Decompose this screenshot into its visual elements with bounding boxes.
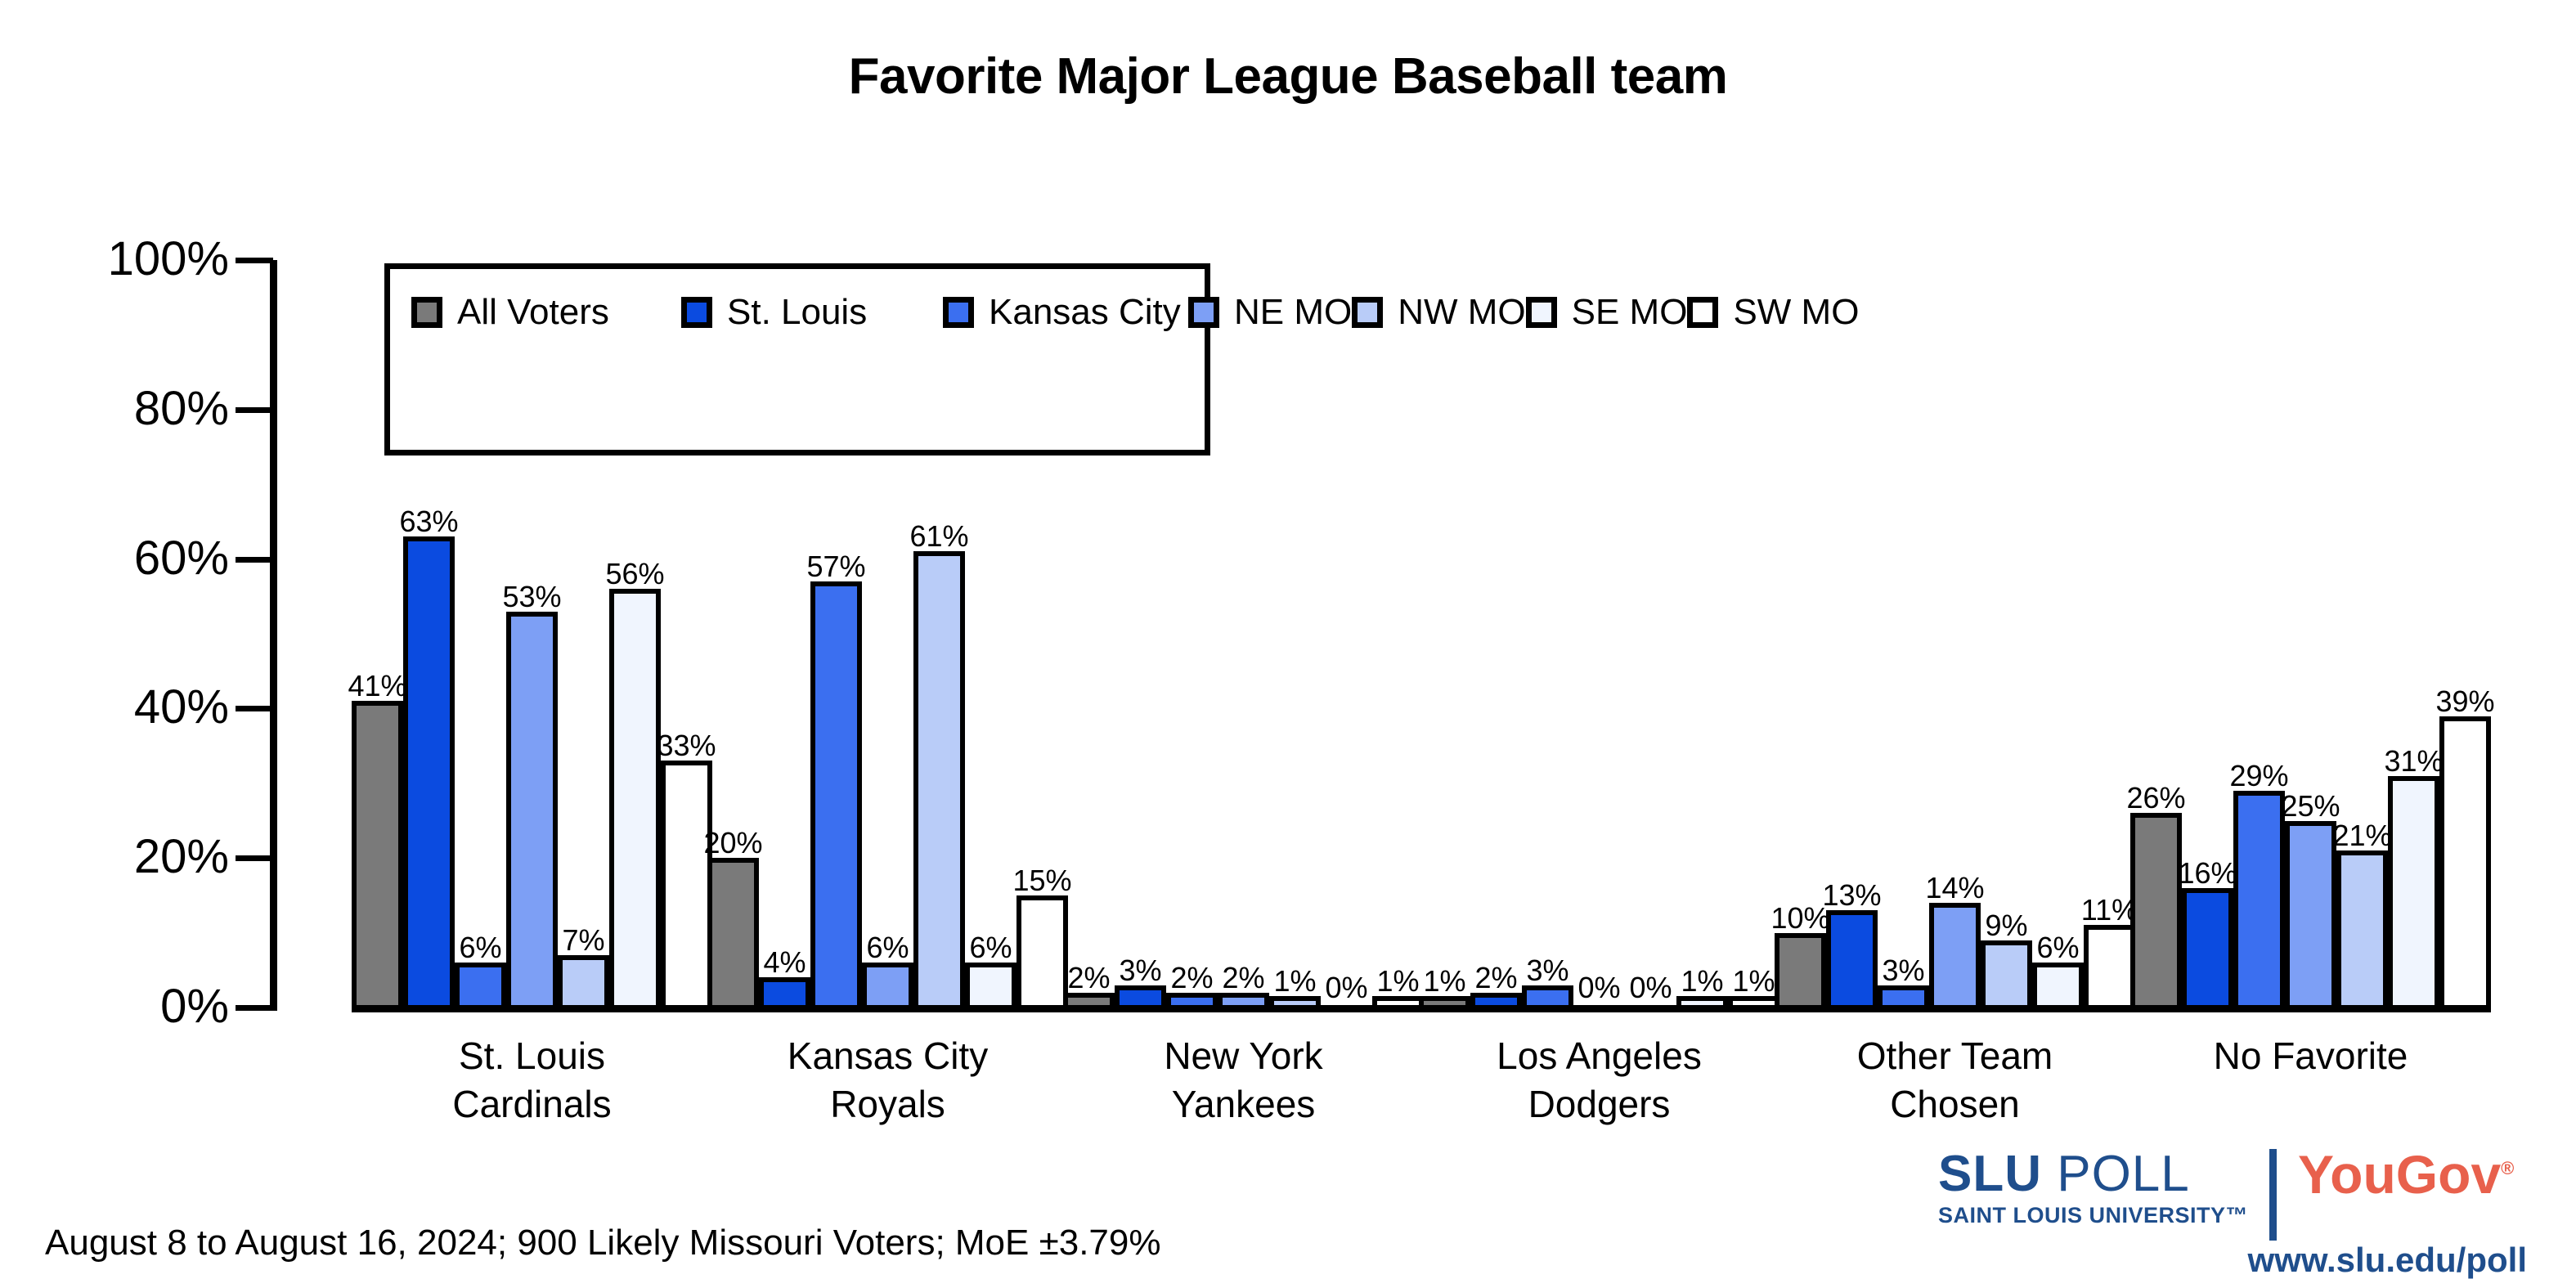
bar[interactable]: 14% xyxy=(1929,903,1981,1008)
bar-value-label: 14% xyxy=(1925,873,1984,903)
bar[interactable]: 4% xyxy=(759,977,810,1008)
bar-value-label: 1% xyxy=(1423,967,1465,996)
bar-column[interactable]: 39% xyxy=(2439,262,2491,1008)
bar-column[interactable]: 16% xyxy=(2182,262,2233,1008)
slu-poll-logo: SLU POLL SAINT LOUIS UNIVERSITY™ xyxy=(1938,1149,2248,1227)
group-baseline xyxy=(707,1005,1068,1012)
y-axis-tick xyxy=(236,258,273,263)
group-baseline xyxy=(2130,1005,2491,1012)
bar[interactable]: 63% xyxy=(403,536,455,1008)
bar-value-label: 0% xyxy=(1325,973,1367,1003)
bar-value-label: 1% xyxy=(1273,967,1316,996)
slu-poll-text: POLL xyxy=(2042,1146,2190,1202)
legend-item[interactable]: SE MO xyxy=(1526,294,1688,330)
bar-column[interactable]: 26% xyxy=(2130,262,2182,1008)
bar[interactable]: 57% xyxy=(810,581,862,1008)
bar-column[interactable]: 29% xyxy=(2233,262,2285,1008)
bar-column[interactable]: 10% xyxy=(1775,262,1826,1008)
bar-value-label: 63% xyxy=(399,507,458,536)
x-axis-category-label: St. LouisCardinals xyxy=(452,1032,611,1129)
bar-column[interactable]: 9% xyxy=(1981,262,2032,1008)
y-axis-tick-label: 20% xyxy=(8,833,229,881)
bar-value-label: 21% xyxy=(2332,821,2391,850)
bar-column[interactable]: 3% xyxy=(1522,262,1573,1008)
legend-label: NW MO xyxy=(1398,294,1525,330)
bar-group-bars: 1%2%3%0%0%1%1% xyxy=(1419,262,1779,1008)
x-axis-category-label-line: Royals xyxy=(788,1080,988,1129)
bar-column[interactable]: 2% xyxy=(1470,262,1522,1008)
bar[interactable]: 61% xyxy=(913,551,965,1008)
y-axis-tick-label: 40% xyxy=(8,684,229,731)
bar-value-label: 4% xyxy=(763,948,806,977)
group-baseline xyxy=(352,1005,712,1012)
legend-swatch xyxy=(1526,297,1557,328)
bar-column[interactable]: 1% xyxy=(1419,262,1470,1008)
x-axis-category-label-line: Kansas City xyxy=(788,1032,988,1080)
bar[interactable]: 20% xyxy=(707,858,759,1008)
bar[interactable]: 3% xyxy=(1878,985,1929,1008)
bar-value-label: 1% xyxy=(1732,967,1775,996)
legend-label: SW MO xyxy=(1733,294,1859,330)
y-axis-tick xyxy=(236,407,273,413)
bar-value-label: 3% xyxy=(1526,956,1568,985)
chart-plot-area: 0%20%40%60%80%100% 41%63%6%53%7%56%33%St… xyxy=(0,0,2576,1288)
bar-value-label: 1% xyxy=(1376,967,1419,996)
bar[interactable]: 21% xyxy=(2336,850,2388,1008)
bar[interactable]: 15% xyxy=(1016,895,1068,1008)
x-axis-category-label-line: Cardinals xyxy=(452,1080,611,1129)
bar[interactable]: 6% xyxy=(965,963,1016,1008)
bar[interactable]: 10% xyxy=(1775,933,1826,1008)
y-axis-tick xyxy=(236,706,273,711)
bar[interactable]: 3% xyxy=(1522,985,1573,1008)
bar-value-label: 26% xyxy=(2126,783,2185,813)
y-axis-tick-label: 100% xyxy=(8,236,229,283)
bar-column[interactable]: 1% xyxy=(1676,262,1728,1008)
bar-column[interactable]: 0% xyxy=(1573,262,1625,1008)
chart-legend: All VotersSt. LouisKansas CityNE MONW MO… xyxy=(384,263,1210,456)
bar[interactable]: 56% xyxy=(609,589,661,1008)
bar-value-label: 6% xyxy=(2036,933,2079,963)
bar-group-bars: 26%16%29%25%21%31%39% xyxy=(2130,262,2491,1008)
x-axis-category-label-line: Los Angeles xyxy=(1497,1032,1702,1080)
legend-label: NE MO xyxy=(1234,294,1352,330)
bar-value-label: 13% xyxy=(1822,881,1881,910)
bar[interactable]: 39% xyxy=(2439,716,2491,1008)
x-axis-category-label: Other TeamChosen xyxy=(1857,1032,2053,1129)
bar-value-label: 16% xyxy=(2178,859,2237,888)
bar-value-label: 7% xyxy=(562,926,604,955)
bar-value-label: 3% xyxy=(1882,956,1924,985)
y-axis-tick xyxy=(236,557,273,563)
legend-swatch xyxy=(411,297,442,328)
survey-footnote: August 8 to August 16, 2024; 900 Likely … xyxy=(45,1223,1161,1263)
bar-column[interactable]: 1% xyxy=(1269,262,1321,1008)
legend-item[interactable]: NW MO xyxy=(1352,294,1525,330)
bar[interactable]: 6% xyxy=(455,963,506,1008)
slu-subtitle: SAINT LOUIS UNIVERSITY™ xyxy=(1938,1205,2248,1227)
bar-column[interactable]: 3% xyxy=(1878,262,1929,1008)
y-axis-tick-label: 0% xyxy=(8,983,229,1030)
legend-swatch xyxy=(1352,297,1383,328)
bar-column[interactable]: 31% xyxy=(2388,262,2439,1008)
bar-value-label: 9% xyxy=(1985,911,2027,940)
bar-column[interactable]: 25% xyxy=(2285,262,2336,1008)
bar-value-label: 31% xyxy=(2384,747,2443,776)
x-axis-category-label-line: No Favorite xyxy=(2214,1032,2408,1080)
y-axis-tick-label: 80% xyxy=(8,385,229,433)
bar-column[interactable]: 21% xyxy=(2336,262,2388,1008)
bar-value-label: 2% xyxy=(1474,963,1517,993)
bar-value-label: 29% xyxy=(2229,761,2288,791)
bar-value-label: 6% xyxy=(459,933,501,963)
legend-swatch xyxy=(681,297,712,328)
bar-column[interactable]: 13% xyxy=(1826,262,1878,1008)
yougov-wordmark: YouGov® xyxy=(2298,1147,2514,1201)
y-axis-tick-label: 60% xyxy=(8,535,229,582)
legend-label: SE MO xyxy=(1572,294,1688,330)
group-baseline xyxy=(1775,1005,2135,1012)
bar[interactable]: 29% xyxy=(2233,791,2285,1008)
legend-item[interactable]: SW MO xyxy=(1687,294,1859,330)
legend-swatch xyxy=(943,297,974,328)
bar-group: 1%2%3%0%0%1%1%Los AngelesDodgers xyxy=(1419,262,1779,1008)
x-axis-category-label: No Favorite xyxy=(2214,1032,2408,1080)
bar-value-label: 53% xyxy=(502,582,561,612)
bar[interactable]: 13% xyxy=(1826,910,1878,1008)
bar-column[interactable]: 14% xyxy=(1929,262,1981,1008)
bar-value-label: 20% xyxy=(703,828,762,858)
bar-value-label: 57% xyxy=(806,552,865,581)
bar-value-label: 1% xyxy=(1681,967,1723,996)
bar[interactable]: 11% xyxy=(2084,925,2135,1008)
legend-item[interactable]: All Voters xyxy=(411,294,681,330)
bar-column[interactable]: 11% xyxy=(2084,262,2135,1008)
x-axis-category-label: Kansas CityRoyals xyxy=(788,1032,988,1129)
bar[interactable]: 41% xyxy=(352,701,403,1008)
bar[interactable]: 16% xyxy=(2182,888,2233,1008)
legend-item[interactable]: Kansas City xyxy=(943,294,1188,330)
y-axis-line xyxy=(270,260,277,1011)
x-axis-category-label-line: St. Louis xyxy=(452,1032,611,1080)
bar-value-label: 2% xyxy=(1067,963,1110,993)
logo-block: SLU POLL SAINT LOUIS UNIVERSITY™ YouGov®… xyxy=(1938,1149,2527,1280)
bar[interactable]: 7% xyxy=(558,955,609,1008)
x-axis-category-label: Los AngelesDodgers xyxy=(1497,1032,1702,1129)
bar-column[interactable]: 0% xyxy=(1321,262,1372,1008)
yougov-text: YouGov xyxy=(2298,1144,2501,1205)
bar[interactable]: 9% xyxy=(1981,940,2032,1008)
legend-label: St. Louis xyxy=(727,294,867,330)
bar-value-label: 3% xyxy=(1119,956,1161,985)
bar[interactable]: 25% xyxy=(2285,821,2336,1008)
bar-column[interactable]: 0% xyxy=(1625,262,1676,1008)
bar[interactable]: 6% xyxy=(2032,963,2084,1008)
legend-label: All Voters xyxy=(457,294,609,330)
bar[interactable]: 6% xyxy=(862,963,913,1008)
group-baseline xyxy=(1063,1005,1424,1012)
group-baseline xyxy=(1419,1005,1779,1012)
bar-column[interactable]: 6% xyxy=(2032,262,2084,1008)
legend-item[interactable]: St. Louis xyxy=(681,294,943,330)
legend-item[interactable]: NE MO xyxy=(1188,294,1352,330)
slu-poll-wordmark: SLU POLL xyxy=(1938,1149,2248,1200)
bar-value-label: 25% xyxy=(2281,792,2340,821)
bar-value-label: 0% xyxy=(1577,973,1620,1003)
bar[interactable]: 33% xyxy=(661,761,712,1008)
legend-swatch xyxy=(1687,297,1718,328)
bar-value-label: 11% xyxy=(2081,895,2138,925)
bar-value-label: 2% xyxy=(1170,963,1213,993)
registered-trademark-icon: ® xyxy=(2501,1158,2514,1178)
x-axis-category-label: New YorkYankees xyxy=(1164,1032,1322,1129)
slu-poll-url[interactable]: www.slu.edu/poll xyxy=(2248,1241,2527,1280)
bar-group: 10%13%3%14%9%6%11%Other TeamChosen xyxy=(1775,262,2135,1008)
bar-value-label: 10% xyxy=(1770,904,1829,933)
bar-value-label: 41% xyxy=(348,671,406,701)
bar-value-label: 2% xyxy=(1222,963,1264,993)
x-axis-category-label-line: Other Team xyxy=(1857,1032,2053,1080)
legend-label: Kansas City xyxy=(989,294,1181,330)
y-axis-tick xyxy=(236,855,273,861)
bar-value-label: 6% xyxy=(969,933,1012,963)
x-axis-category-label-line: Yankees xyxy=(1164,1080,1322,1129)
slu-bold-text: SLU xyxy=(1938,1146,2042,1202)
x-axis-category-label-line: Chosen xyxy=(1857,1080,2053,1129)
x-axis-category-label-line: New York xyxy=(1164,1032,1322,1080)
bar-value-label: 39% xyxy=(2435,687,2494,716)
bar-value-label: 6% xyxy=(866,933,909,963)
bar-value-label: 56% xyxy=(605,559,664,589)
bar-group: 26%16%29%25%21%31%39%No Favorite xyxy=(2130,262,2491,1008)
slu-yougov-row: SLU POLL SAINT LOUIS UNIVERSITY™ YouGov® xyxy=(1938,1149,2514,1241)
x-axis-category-label-line: Dodgers xyxy=(1497,1080,1702,1129)
bar-column[interactable]: 1% xyxy=(1372,262,1424,1008)
bar-group-bars: 10%13%3%14%9%6%11% xyxy=(1775,262,2135,1008)
bar[interactable]: 31% xyxy=(2388,776,2439,1008)
bar[interactable]: 26% xyxy=(2130,813,2182,1008)
bar[interactable]: 3% xyxy=(1115,985,1166,1008)
bar-value-label: 0% xyxy=(1629,973,1672,1003)
legend-swatch xyxy=(1188,297,1219,328)
bar-column[interactable]: 2% xyxy=(1218,262,1269,1008)
bar[interactable]: 53% xyxy=(506,612,558,1008)
y-axis-tick xyxy=(236,1005,273,1011)
logo-divider xyxy=(2269,1149,2277,1241)
bar-value-label: 61% xyxy=(909,522,968,551)
bar-column[interactable]: 1% xyxy=(1728,262,1779,1008)
legend-items: All VotersSt. LouisKansas CityNE MONW MO… xyxy=(411,289,1859,336)
